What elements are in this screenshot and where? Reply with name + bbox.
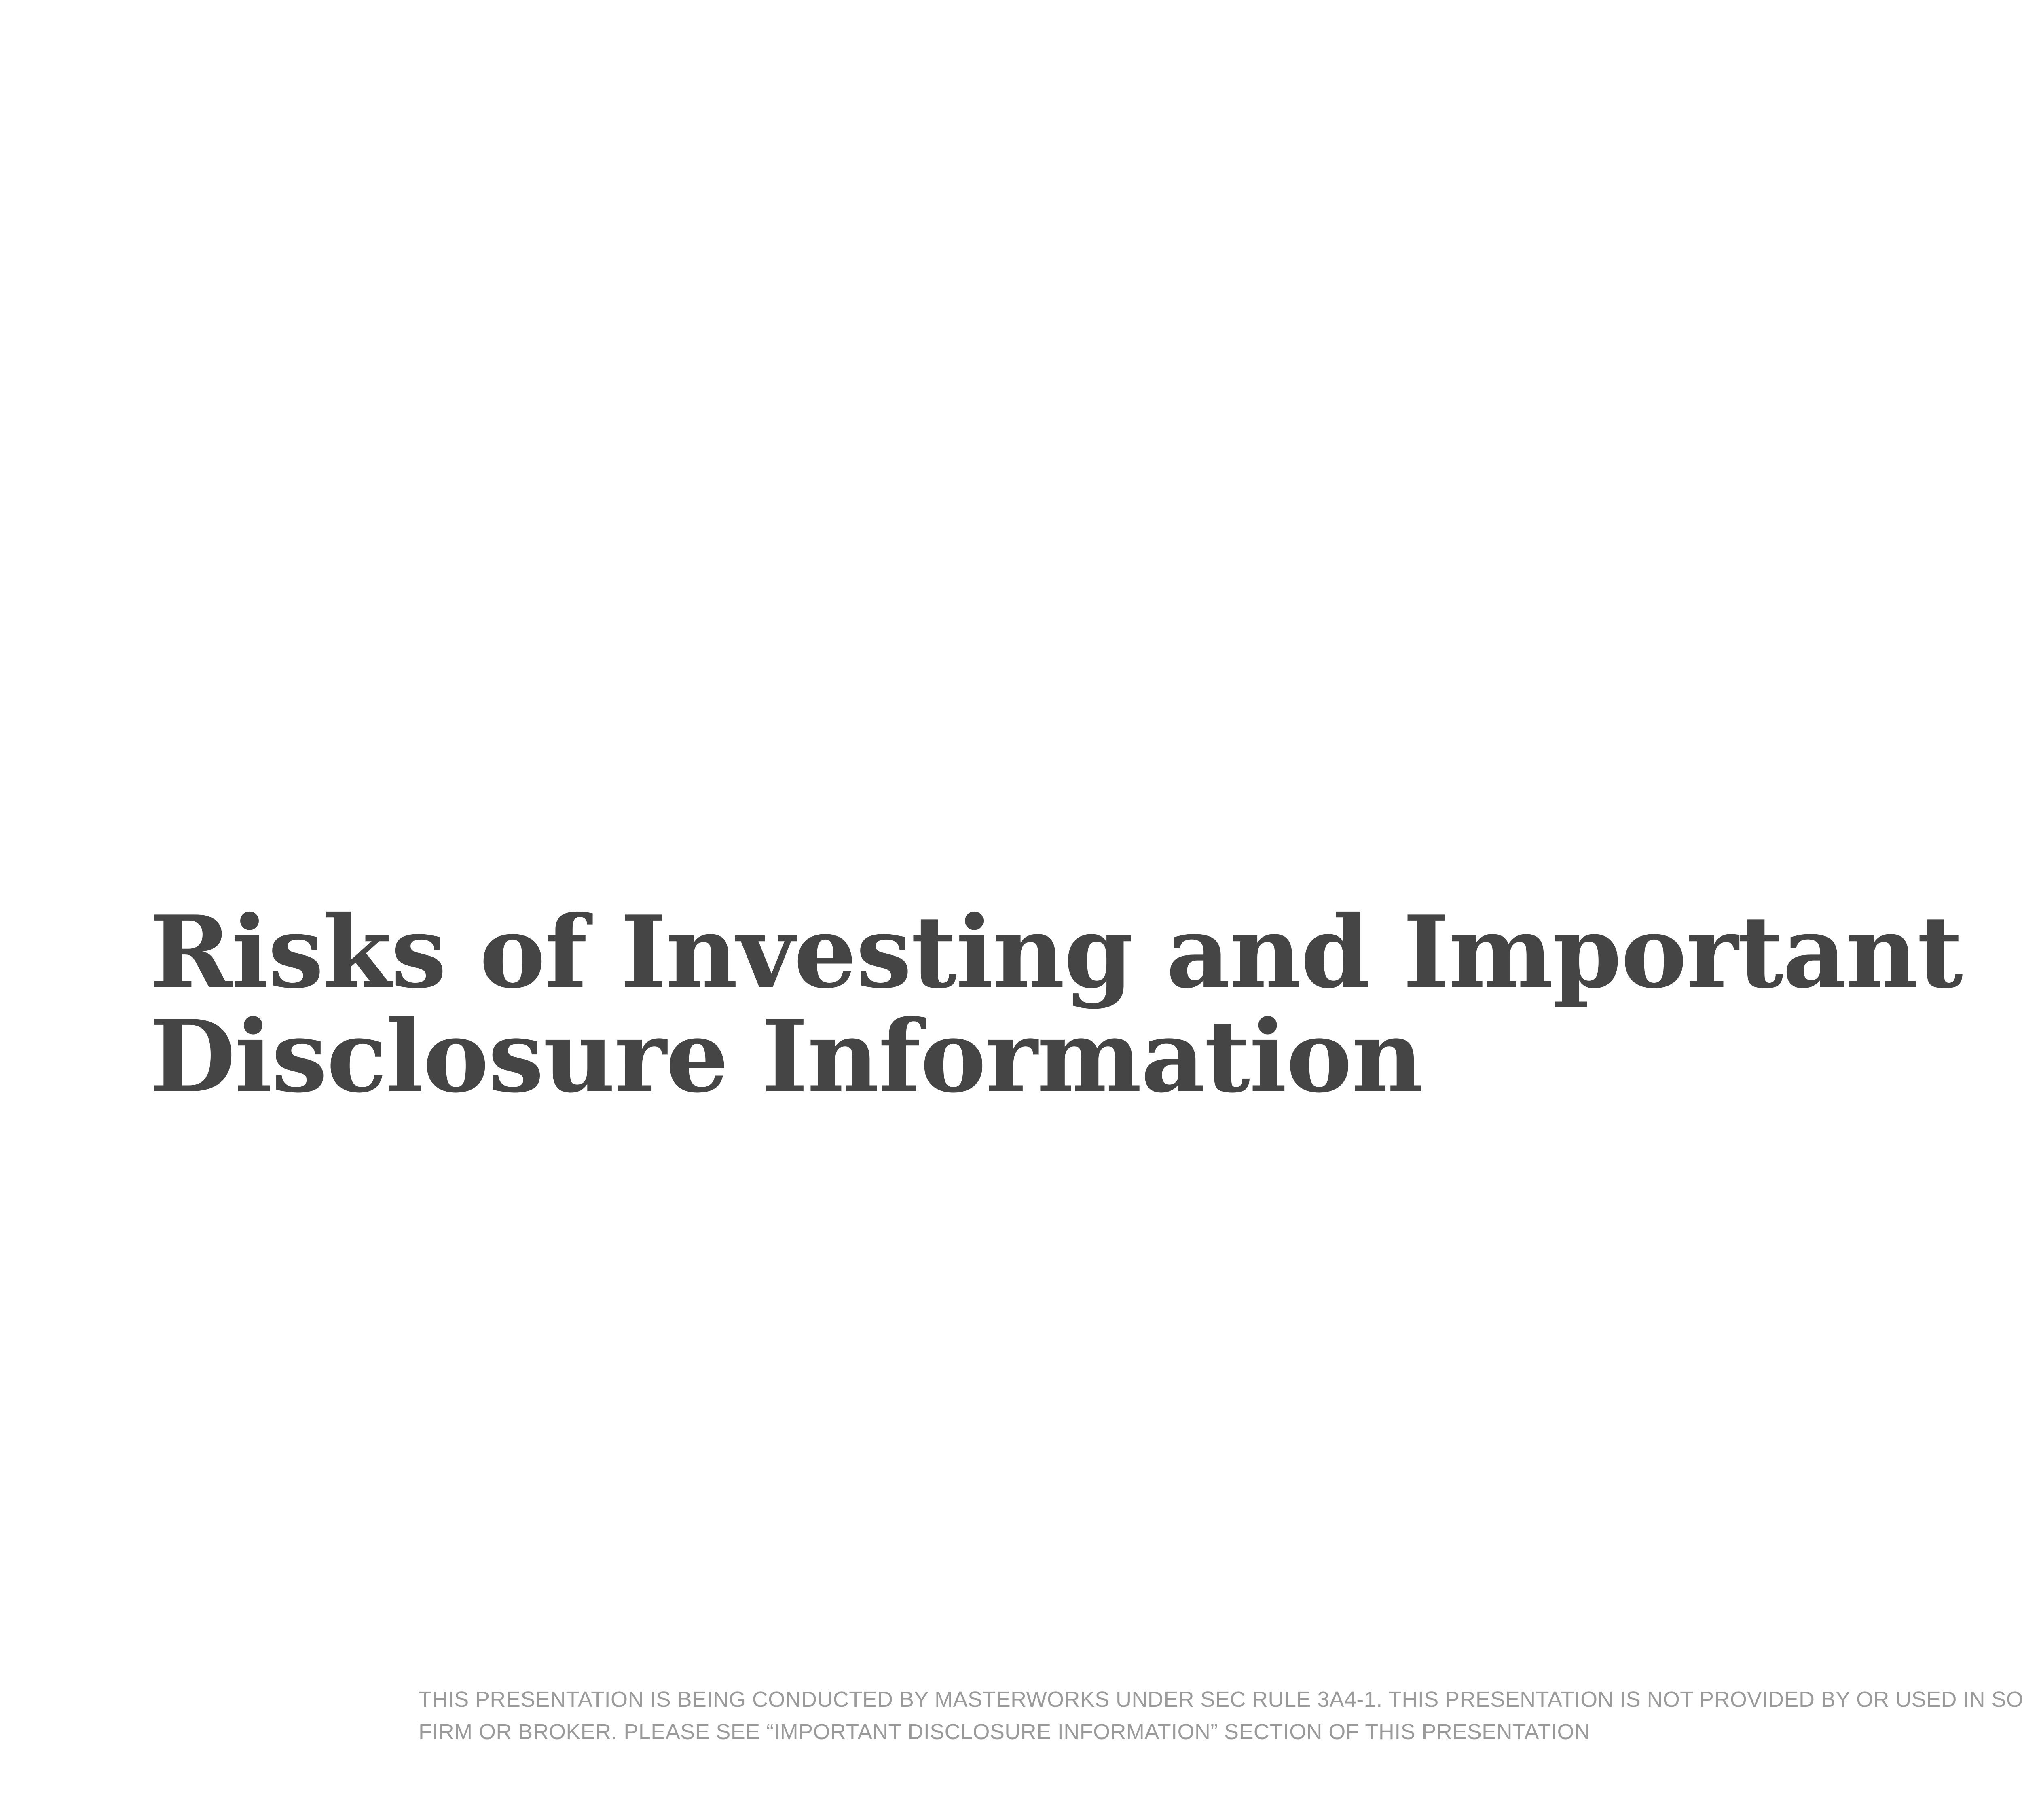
slide-footer: MASTERW RKS THIS PRESENTATION IS BEING C… <box>0 1674 2022 1820</box>
disclaimer-line-2: FIRM OR BROKER. PLEASE SEE “IMPORTANT DI… <box>419 1716 2022 1748</box>
slide-title: Risks of Investing and Important Disclos… <box>150 900 2022 1109</box>
disclaimer-line-1: THIS PRESENTATION IS BEING CONDUCTED BY … <box>419 1683 2022 1716</box>
title-line-2: Disclosure Information <box>150 1004 2022 1109</box>
title-line-1: Risks of Investing and Important <box>150 900 2022 1004</box>
disclaimer-text: THIS PRESENTATION IS BEING CONDUCTED BY … <box>419 1683 2022 1748</box>
presentation-slide: Risks of Investing and Important Disclos… <box>0 0 2022 1820</box>
